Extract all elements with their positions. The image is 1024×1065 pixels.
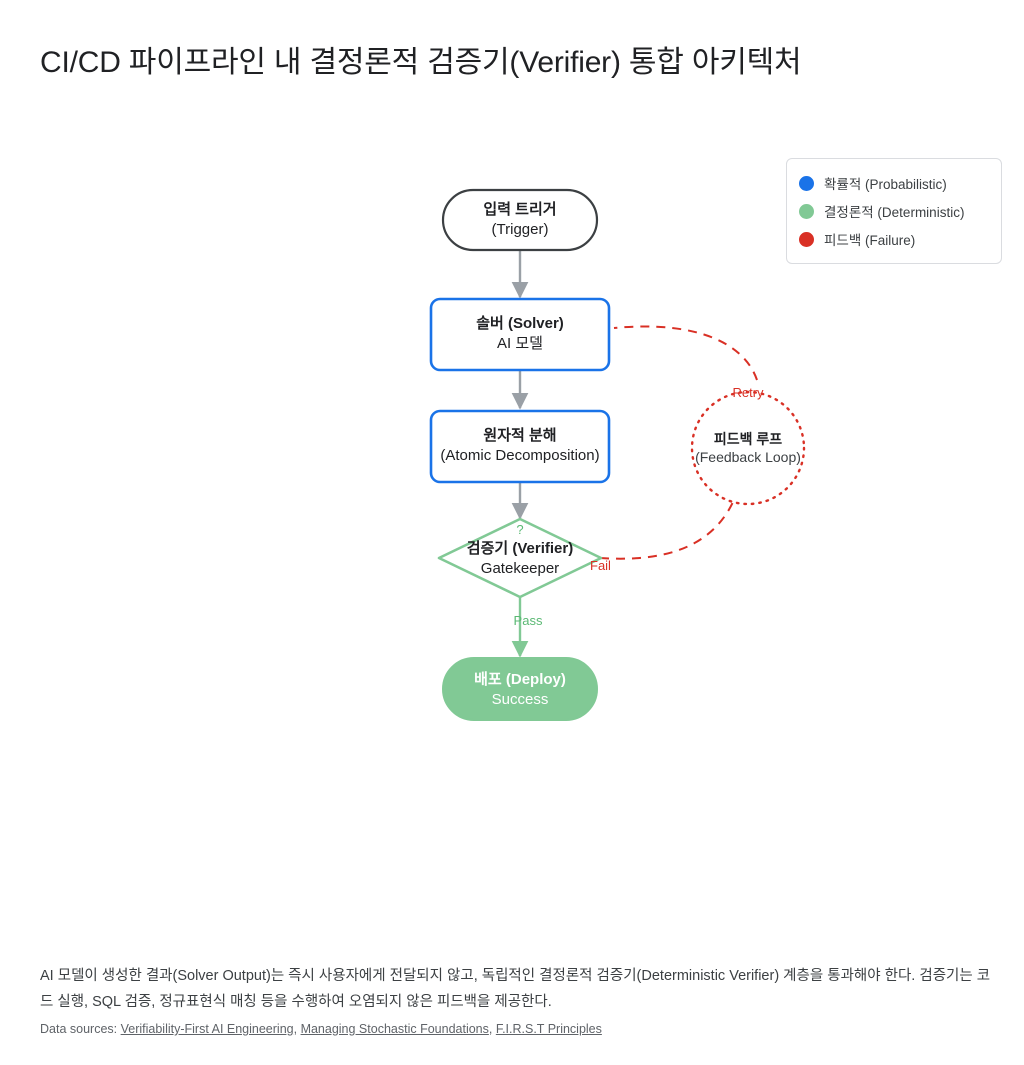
node-solver[interactable] <box>431 299 609 370</box>
legend-item-label: 확률적 (Probabilistic) <box>824 173 947 193</box>
node-deploy[interactable] <box>443 658 597 720</box>
node-atomic-decomposition[interactable] <box>431 411 609 482</box>
source-link-3[interactable]: F.I.R.S.T Principles <box>496 1022 602 1036</box>
source-separator-2: , <box>489 1022 496 1036</box>
circle-icon <box>799 232 814 247</box>
node-feedback-loop[interactable] <box>692 392 804 504</box>
legend: 확률적 (Probabilistic) 결정론적 (Deterministic)… <box>786 158 1002 264</box>
legend-item-label: 결정론적 (Deterministic) <box>824 201 964 221</box>
page-title: CI/CD 파이프라인 내 결정론적 검증기(Verifier) 통합 아키텍처 <box>40 42 990 83</box>
data-sources: Data sources: Verifiability-First AI Eng… <box>40 1022 995 1036</box>
source-link-2[interactable]: Managing Stochastic Foundations <box>301 1022 489 1036</box>
node-verifier[interactable] <box>439 519 601 597</box>
edge-feedback-to-solver <box>614 327 757 380</box>
legend-item-probabilistic[interactable]: 확률적 (Probabilistic) <box>799 169 989 197</box>
circle-icon <box>799 176 814 191</box>
source-separator-1: , <box>294 1022 301 1036</box>
caption-text: AI 모델이 생성한 결과(Solver Output)는 즉시 사용자에게 전… <box>40 963 995 1017</box>
data-sources-prefix: Data sources: <box>40 1022 117 1036</box>
source-link-1[interactable]: Verifiability-First AI Engineering <box>121 1022 294 1036</box>
edge-verifier-to-feedback <box>600 502 733 559</box>
legend-item-failure[interactable]: 피드백 (Failure) <box>799 225 989 253</box>
legend-item-deterministic[interactable]: 결정론적 (Deterministic) <box>799 197 989 225</box>
node-trigger[interactable] <box>443 190 597 250</box>
circle-icon <box>799 204 814 219</box>
legend-item-label: 피드백 (Failure) <box>824 229 915 249</box>
